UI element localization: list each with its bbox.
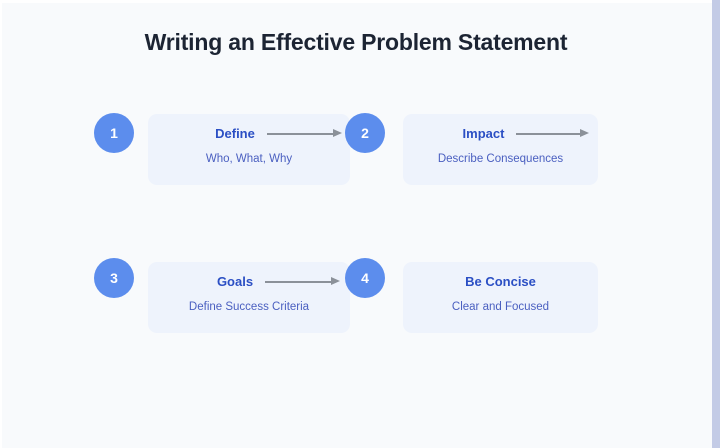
step-card-2-subtitle: Describe Consequences <box>403 153 598 165</box>
vertical-scrollbar[interactable] <box>712 0 720 448</box>
step-card-2-heading-row: Impact <box>403 126 598 141</box>
step-number-badge-3[interactable]: 3 <box>94 258 134 298</box>
step-card-1[interactable]: Define Who, What, Why <box>148 114 350 185</box>
step-card-4[interactable]: Be Concise Clear and Focused <box>403 262 598 333</box>
step-card-4-content: Be Concise Clear and Focused <box>403 262 598 333</box>
arrow-right-icon <box>267 128 343 139</box>
arrow-shaft <box>516 133 581 135</box>
arrow-right-icon <box>516 128 590 139</box>
infographic-canvas: Writing an Effective Problem Statement D… <box>0 0 720 448</box>
step-card-4-heading-row: Be Concise <box>403 274 598 289</box>
step-card-2[interactable]: Impact Describe Consequences <box>403 114 598 185</box>
step-card-3-title: Goals <box>217 274 253 289</box>
step-card-4-subtitle: Clear and Focused <box>403 301 598 313</box>
page-top-edge <box>0 0 712 3</box>
step-card-1-title: Define <box>215 126 255 141</box>
arrow-head <box>580 129 589 137</box>
step-number-badge-1[interactable]: 1 <box>94 113 134 153</box>
step-card-1-subtitle: Who, What, Why <box>148 153 350 165</box>
step-card-1-heading-row: Define <box>148 126 350 141</box>
step-card-2-content: Impact Describe Consequences <box>403 114 598 185</box>
step-card-3-content: Goals Define Success Criteria <box>148 262 350 333</box>
step-card-3-heading-row: Goals <box>148 274 350 289</box>
page-left-edge <box>0 0 2 448</box>
arrow-head <box>333 129 342 137</box>
arrow-shaft <box>265 281 332 283</box>
step-card-3[interactable]: Goals Define Success Criteria <box>148 262 350 333</box>
step-number-badge-2[interactable]: 2 <box>345 113 385 153</box>
step-card-2-title: Impact <box>463 126 505 141</box>
arrow-shaft <box>267 133 334 135</box>
page-title: Writing an Effective Problem Statement <box>0 29 712 56</box>
arrow-head <box>331 277 340 285</box>
step-card-1-content: Define Who, What, Why <box>148 114 350 185</box>
step-number-badge-4[interactable]: 4 <box>345 258 385 298</box>
arrow-right-icon <box>265 276 341 287</box>
step-card-3-subtitle: Define Success Criteria <box>148 301 350 313</box>
step-card-4-title: Be Concise <box>465 274 536 289</box>
